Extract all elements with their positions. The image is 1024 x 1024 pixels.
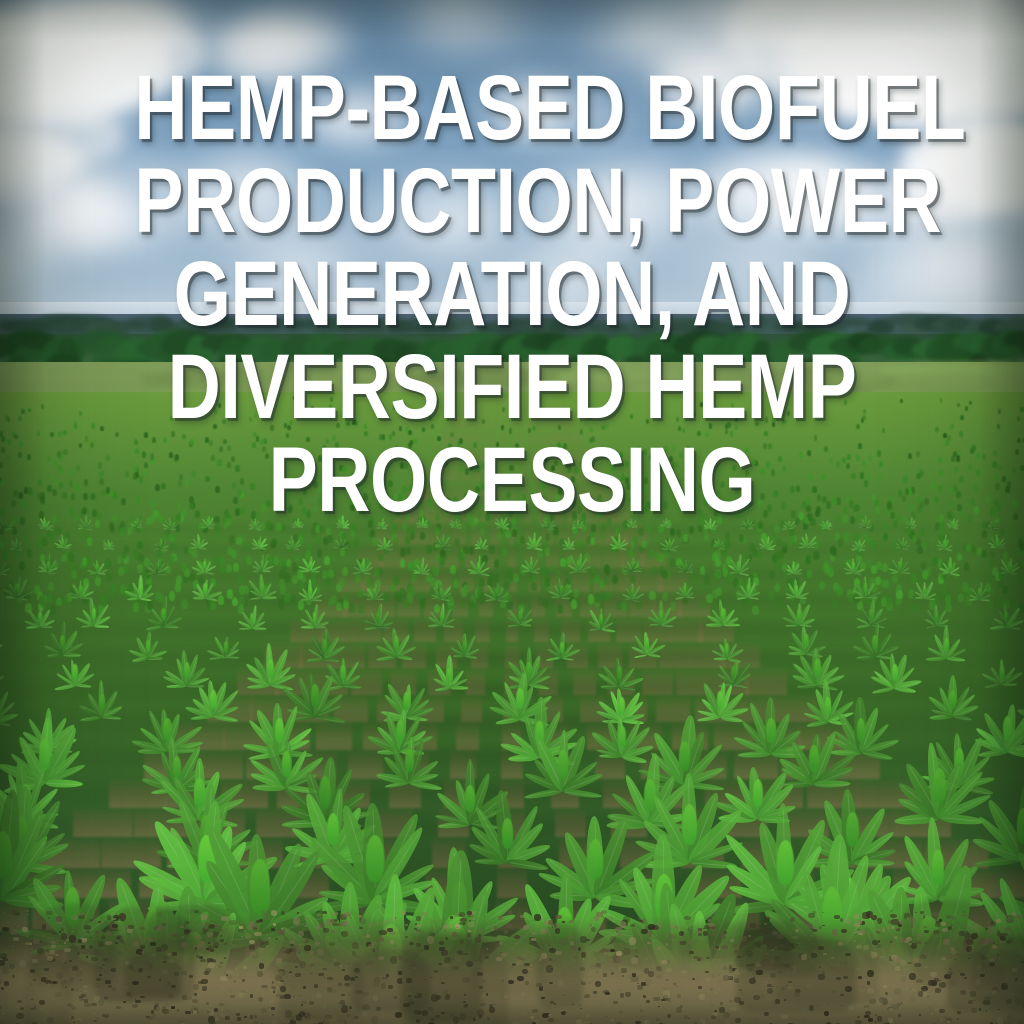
hemp-apical-bud: [173, 756, 182, 780]
distant-hemp-plant: [879, 461, 883, 467]
distant-hemp-plant: [14, 434, 18, 440]
distant-hemp-plant: [58, 465, 62, 472]
distant-hemp-plant: [843, 515, 848, 523]
distant-hemp-plant: [306, 437, 310, 443]
hemp-apical-bud: [311, 684, 319, 707]
distant-hemp-plant: [644, 506, 649, 514]
hemp-leaf: [298, 526, 303, 528]
distant-hemp-plant: [20, 517, 25, 525]
distant-hemp-plant: [302, 507, 307, 515]
distant-hemp-plant: [677, 479, 682, 486]
distant-hemp-plant: [782, 419, 785, 424]
distant-hemp-plant: [619, 452, 623, 458]
hemp-apical-bud: [619, 726, 627, 747]
distant-hemp-plant: [1017, 438, 1021, 444]
distant-hemp-plant: [407, 502, 412, 510]
distant-hemp-plant: [995, 483, 1000, 490]
hemp-biofuel-poster: HEMP-BASED BIOFUEL PRODUCTION, POWER GEN…: [0, 0, 1024, 1024]
distant-hemp-plant: [279, 557, 285, 566]
distant-hemp-plant: [856, 455, 860, 461]
distant-hemp-plant: [683, 478, 688, 485]
distant-hemp-plant: [725, 429, 729, 434]
distant-hemp-plant: [100, 426, 104, 431]
hemp-leaf: [793, 573, 801, 574]
hemp-apical-bud: [631, 589, 634, 597]
soil-clod: [271, 910, 277, 916]
distant-hemp-plant: [708, 458, 712, 464]
distant-hemp-plant: [664, 446, 668, 452]
hemp-leaf: [502, 526, 509, 528]
distant-hemp-plant: [920, 470, 924, 477]
hemp-apical-bud: [747, 520, 749, 525]
hemp-apical-bud: [297, 521, 299, 525]
distant-hemp-plant: [429, 416, 432, 421]
hemp-apical-bud: [342, 520, 344, 525]
soil-clod: [896, 1019, 898, 1020]
distant-hemp-plant: [413, 438, 417, 444]
hemp-leaf: [161, 548, 168, 550]
distant-hemp-plant: [772, 422, 776, 427]
distant-hemp-plant: [560, 558, 566, 567]
distant-hemp-plant: [989, 558, 995, 567]
hemp-apical-bud: [679, 741, 690, 772]
distant-hemp-plant: [151, 514, 156, 522]
distant-hemp-plant: [235, 465, 239, 472]
distant-hemp-plant: [287, 485, 292, 492]
distant-hemp-plant: [13, 490, 18, 497]
distant-hemp-plant: [993, 450, 997, 456]
soil-clod: [637, 971, 641, 975]
distant-hemp-plant: [826, 501, 831, 509]
distant-hemp-plant: [997, 424, 1001, 429]
soil-clod: [710, 916, 712, 917]
distant-hemp-plant: [652, 489, 657, 496]
distant-hemp-plant: [37, 431, 41, 437]
distant-hemp-plant: [347, 449, 351, 455]
hemp-apical-bud: [869, 609, 873, 620]
distant-hemp-plant: [735, 425, 739, 431]
distant-hemp-plant: [567, 463, 571, 470]
distant-hemp-plant: [686, 466, 690, 473]
hemp-leaf: [827, 527, 832, 529]
distant-hemp-plant: [998, 409, 1001, 414]
distant-hemp-plant: [734, 453, 738, 459]
soil-clod: [277, 918, 280, 921]
distant-hemp-plant: [69, 507, 74, 515]
distant-hemp-plant: [444, 509, 449, 517]
distant-hemp-plant: [136, 496, 141, 503]
distant-hemp-plant: [791, 510, 796, 518]
distant-hemp-plant: [741, 456, 745, 462]
hemp-apical-bud: [753, 779, 763, 807]
hemp-apical-bud: [340, 665, 346, 680]
distant-hemp-plant: [240, 478, 245, 485]
soil-clod: [214, 1017, 219, 1021]
soil-clod: [890, 914, 897, 919]
cloud-puff: [153, 10, 217, 44]
distant-hemp-plant: [170, 416, 173, 421]
soil-furrow: [521, 460, 527, 481]
hemp-apical-bud: [322, 639, 327, 653]
distant-hemp-plant: [57, 451, 61, 457]
distant-hemp-plant: [670, 558, 676, 567]
distant-hemp-plant: [249, 417, 252, 422]
distant-hemp-plant: [935, 427, 939, 433]
distant-hemp-plant: [957, 504, 962, 512]
soil-clod: [594, 946, 596, 947]
distant-hemp-plant: [482, 504, 487, 512]
hemp-apical-bud: [952, 521, 954, 526]
distant-hemp-plant: [293, 396, 296, 400]
distant-hemp-plant: [395, 510, 400, 518]
cloud-puff: [433, 206, 488, 237]
distant-hemp-plant: [745, 470, 749, 477]
distant-hemp-plant: [819, 581, 825, 590]
distant-hemp-plant: [1002, 476, 1006, 483]
soil-clod: [682, 998, 687, 1003]
hemp-apical-bud: [224, 641, 228, 653]
distant-hemp-plant: [1020, 465, 1024, 472]
distant-hemp-plant: [781, 502, 786, 510]
distant-hemp-plant: [713, 463, 717, 469]
distant-hemp-plant: [438, 488, 443, 495]
hemp-leaf: [992, 526, 998, 528]
distant-hemp-plant: [252, 442, 256, 448]
hemp-apical-bud: [261, 560, 264, 568]
hemp-apical-bud: [996, 538, 999, 545]
distant-hemp-plant: [236, 537, 241, 545]
distant-hemp-plant: [812, 486, 817, 493]
soil-clod: [704, 917, 708, 919]
distant-hemp-plant: [364, 431, 368, 437]
distant-hemp-plant: [799, 452, 803, 458]
distant-hemp-plant: [79, 443, 83, 449]
distant-hemp-plant: [748, 484, 753, 491]
distant-hemp-plant: [70, 469, 74, 476]
soil-clod: [405, 924, 409, 926]
distant-hemp-plant: [520, 536, 526, 544]
hemp-apical-bud: [250, 859, 270, 914]
distant-hemp-plant: [558, 425, 562, 430]
distant-hemp-plant: [882, 428, 886, 433]
distant-hemp-plant: [508, 448, 512, 454]
distant-hemp-plant: [185, 479, 190, 486]
distant-hemp-plant: [890, 512, 895, 520]
soil-clod: [468, 930, 472, 932]
soil-clod: [311, 1022, 313, 1023]
distant-hemp-plant: [768, 443, 772, 449]
hemp-apical-bud: [373, 588, 376, 596]
distant-hemp-plant: [727, 422, 731, 427]
hemp-apical-bud: [665, 521, 667, 525]
distant-hemp-plant: [693, 411, 696, 416]
hemp-leaf: [381, 527, 386, 529]
distant-hemp-plant: [808, 474, 813, 481]
distant-hemp-plant: [773, 490, 778, 497]
distant-hemp-plant: [190, 439, 194, 445]
distant-hemp-plant: [732, 465, 736, 471]
distant-hemp-plant: [374, 468, 378, 475]
distant-hemp-plant: [74, 514, 79, 522]
distant-hemp-plant: [644, 477, 649, 484]
distant-hemp-plant: [317, 498, 322, 506]
distant-hemp-plant: [382, 434, 386, 440]
distant-hemp-plant: [415, 457, 419, 463]
distant-hemp-plant: [509, 428, 513, 433]
hemp-apical-bud: [210, 690, 217, 709]
soil-clod: [940, 1018, 943, 1021]
soil-clod: [681, 970, 688, 974]
distant-hemp-plant: [74, 424, 78, 429]
hemp-apical-bud: [560, 585, 563, 594]
distant-hemp-plant: [967, 515, 972, 523]
distant-hemp-plant: [232, 482, 237, 489]
soil-clod: [1015, 925, 1018, 928]
hemp-apical-bud: [659, 610, 663, 621]
distant-hemp-plant: [626, 483, 631, 490]
soil-clod: [416, 916, 421, 921]
distant-hemp-plant: [99, 478, 104, 485]
hemp-apical-bud: [38, 612, 42, 622]
distant-hemp-plant: [763, 510, 768, 518]
hemp-apical-bud: [766, 718, 775, 743]
distant-hemp-plant: [974, 506, 979, 514]
distant-hemp-plant: [112, 514, 117, 522]
distant-hemp-plant: [28, 489, 33, 496]
hemp-leaf: [293, 548, 300, 549]
soil-clod: [645, 958, 648, 960]
hemp-leaf: [577, 526, 582, 528]
soil-furrow: [497, 460, 503, 481]
distant-hemp-plant: [938, 457, 942, 463]
hemp-leaf: [666, 526, 671, 528]
hemp-apical-bud: [207, 519, 209, 524]
distant-hemp-plant: [115, 432, 119, 438]
distant-hemp-plant: [976, 469, 980, 476]
distant-hemp-plant: [679, 452, 683, 458]
distant-hemp-plant: [982, 454, 986, 460]
distant-hemp-plant: [135, 448, 139, 454]
distant-hemp-plant: [836, 515, 841, 523]
distant-hemp-plant: [764, 431, 768, 437]
distant-hemp-plant: [847, 454, 851, 460]
hemp-apical-bud: [477, 562, 480, 570]
distant-hemp-plant: [700, 402, 703, 407]
cloud-puff: [903, 230, 1002, 278]
distant-hemp-plant: [316, 536, 321, 544]
soil-clod: [699, 994, 705, 1000]
soil-clod: [723, 1012, 730, 1019]
distant-hemp-plant: [52, 515, 57, 523]
distant-hemp-plant: [683, 534, 688, 542]
distant-hemp-plant: [939, 514, 944, 522]
soil-clod: [20, 989, 23, 992]
distant-hemp-plant: [611, 465, 615, 472]
distant-hemp-plant: [957, 403, 960, 408]
distant-hemp-plant: [858, 443, 862, 449]
soil-clod: [912, 989, 914, 991]
distant-hemp-plant: [905, 488, 910, 495]
hemp-apical-bud: [806, 537, 809, 544]
soil-clod: [901, 1002, 903, 1004]
distant-hemp-plant: [240, 507, 245, 515]
hemp-apical-bud: [1004, 611, 1008, 622]
distant-hemp-plant: [215, 486, 220, 493]
distant-hemp-plant: [509, 475, 514, 482]
soil-clod: [729, 1000, 733, 1003]
distant-hemp-plant: [163, 437, 167, 443]
distant-hemp-plant: [459, 465, 463, 472]
distant-hemp-plant: [169, 452, 173, 458]
distant-hemp-plant: [846, 463, 850, 470]
distant-hemp-plant: [191, 471, 195, 478]
distant-hemp-plant: [97, 512, 102, 520]
distant-hemp-plant: [605, 424, 609, 430]
hemp-apical-bud: [1008, 562, 1011, 570]
distant-hemp-plant: [318, 486, 323, 493]
distant-hemp-plant: [181, 399, 184, 404]
distant-hemp-plant: [715, 491, 720, 498]
distant-hemp-plant: [394, 446, 398, 452]
distant-hemp-plant: [703, 498, 708, 505]
distant-hemp-plant: [338, 478, 343, 485]
hemp-apical-bud: [47, 561, 50, 569]
distant-hemp-plant: [322, 445, 326, 451]
hemp-apical-bud: [465, 785, 475, 812]
distant-hemp-plant: [902, 478, 907, 485]
distant-hemp-plant: [101, 489, 106, 496]
distant-hemp-plant: [278, 477, 283, 484]
distant-hemp-plant: [703, 468, 707, 475]
distant-hemp-plant: [82, 557, 88, 566]
hemp-leaf: [423, 526, 429, 528]
hemp-apical-bud: [96, 564, 99, 571]
distant-hemp-plant: [1015, 449, 1019, 455]
distant-hemp-plant: [697, 431, 701, 437]
distant-hemp-plant: [776, 559, 782, 568]
soil-clod: [236, 1013, 240, 1016]
hemp-apical-bud: [160, 541, 162, 547]
distant-hemp-plant: [23, 535, 28, 543]
distant-hemp-plant: [509, 465, 513, 472]
distant-hemp-plant: [531, 582, 537, 591]
soil-clod: [611, 972, 614, 975]
soil-clod: [735, 1018, 741, 1023]
distant-hemp-plant: [665, 470, 669, 477]
distant-hemp-plant: [745, 447, 749, 453]
distant-hemp-plant: [266, 500, 271, 507]
distant-hemp-plant: [972, 445, 976, 451]
distant-hemp-plant: [996, 504, 1001, 512]
distant-hemp-plant: [52, 489, 57, 496]
distant-hemp-plant: [109, 490, 114, 497]
distant-hemp-plant: [273, 556, 279, 565]
distant-hemp-plant: [377, 413, 380, 418]
distant-hemp-plant: [796, 485, 801, 492]
distant-hemp-plant: [836, 461, 840, 468]
distant-hemp-plant: [555, 494, 560, 501]
distant-hemp-plant: [778, 456, 782, 462]
distant-hemp-plant: [393, 405, 396, 410]
distant-hemp-plant: [617, 460, 621, 467]
hemp-apical-bud: [978, 588, 981, 596]
distant-hemp-plant: [332, 435, 336, 441]
distant-hemp-plant: [363, 493, 368, 500]
distant-hemp-plant: [864, 480, 869, 487]
hemp-apical-bud: [501, 519, 503, 525]
distant-hemp-plant: [286, 559, 292, 568]
distant-hemp-plant: [506, 492, 511, 499]
soil-clod: [910, 988, 912, 990]
distant-hemp-plant: [246, 556, 252, 565]
distant-hemp-plant: [805, 497, 810, 504]
distant-hemp-plant: [354, 450, 358, 456]
soil-clod: [875, 1021, 877, 1023]
cloud-base: [767, 83, 1024, 121]
soil-clod: [208, 962, 215, 968]
distant-hemp-plant: [211, 455, 215, 461]
distant-hemp-plant: [557, 442, 561, 448]
soil-furrow: [447, 460, 459, 481]
distant-hemp-plant: [767, 504, 772, 512]
distant-hemp-plant: [117, 555, 123, 564]
distant-hemp-plant: [960, 415, 963, 420]
soil-clod: [622, 1002, 627, 1005]
hemp-leaf: [5, 527, 12, 528]
distant-hemp-plant: [11, 500, 16, 507]
distant-hemp-plant: [303, 488, 308, 495]
hemp-apical-bud: [292, 540, 294, 546]
distant-hemp-plant: [7, 439, 11, 445]
soil-clod: [648, 971, 654, 977]
distant-hemp-plant: [747, 499, 752, 507]
soil-clod: [587, 971, 594, 978]
distant-hemp-plant: [992, 461, 996, 467]
distant-hemp-plant: [18, 492, 23, 499]
distant-hemp-plant: [326, 439, 330, 445]
distant-hemp-plant: [38, 479, 43, 486]
distant-hemp-plant: [453, 498, 458, 505]
distant-hemp-plant: [84, 479, 89, 486]
distant-hemp-plant: [629, 500, 634, 508]
hemp-apical-bud: [645, 638, 649, 650]
soil-clod: [259, 1009, 261, 1010]
hemp-apical-bud: [267, 659, 274, 678]
distant-hemp-plant: [342, 466, 346, 473]
distant-hemp-plant: [182, 434, 186, 440]
hemp-apical-bud: [495, 588, 498, 597]
hemp-apical-bud: [422, 520, 424, 524]
soil-clod: [116, 1006, 121, 1009]
distant-hemp-plant: [219, 446, 223, 452]
hemp-apical-bud: [668, 540, 670, 547]
distant-hemp-plant: [863, 409, 866, 414]
distant-hemp-plant: [161, 483, 166, 490]
hemp-leaf: [259, 547, 266, 549]
distant-hemp-plant: [229, 535, 235, 543]
distant-hemp-plant: [485, 513, 490, 521]
distant-hemp-plant: [442, 479, 447, 486]
distant-hemp-plant: [637, 456, 641, 462]
soil-clod: [2, 912, 5, 914]
soil-clod: [720, 1002, 723, 1005]
distant-hemp-plant: [400, 412, 403, 417]
hemp-leaf: [262, 596, 277, 599]
soil-clod: [254, 1015, 257, 1018]
distant-hemp-plant: [401, 400, 404, 405]
hemp-apical-bud: [944, 638, 949, 653]
distant-hemp-plant: [231, 456, 235, 462]
